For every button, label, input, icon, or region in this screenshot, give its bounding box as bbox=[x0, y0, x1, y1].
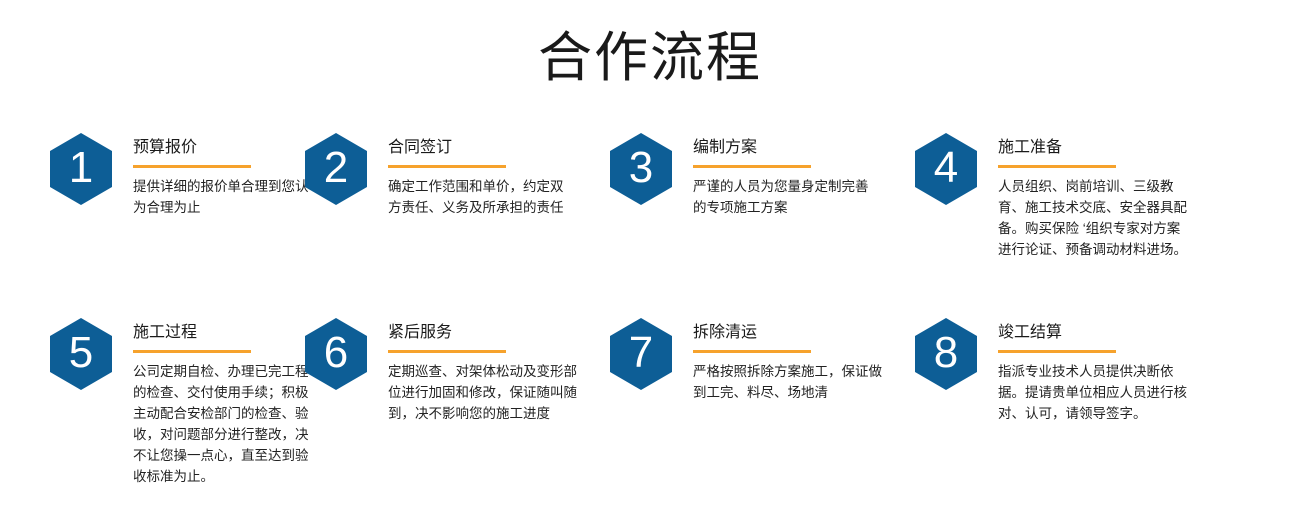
process-row-top: 1 预算报价 提供详细的报价单合理到您认为合理为止 2 合同签订 确定工作范围和… bbox=[0, 130, 1300, 315]
step-underline-rule bbox=[693, 165, 811, 168]
step-text-block-3: 编制方案 严谨的人员为您量身定制完善的专项施工方案 bbox=[672, 130, 915, 218]
step-title-7: 拆除清运 bbox=[693, 323, 915, 343]
step-number-hexagon-6: 6 bbox=[305, 318, 367, 390]
step-underline-rule bbox=[133, 350, 251, 353]
step-title-6: 紧后服务 bbox=[388, 323, 610, 343]
step-description-1: 提供详细的报价单合理到您认为合理为止 bbox=[133, 176, 318, 218]
step-number-label: 7 bbox=[629, 331, 653, 375]
step-underline-rule bbox=[693, 350, 811, 353]
step-description-6: 定期巡查、对架体松动及变形部位进行加固和修改，保证随叫随到，决不影响您的施工进度 bbox=[388, 361, 580, 424]
step-title-2: 合同签订 bbox=[388, 138, 610, 158]
process-step-4[interactable]: 4 施工准备 人员组织、岗前培训、三级教育、施工技术交底、安全器具配备。购买保险… bbox=[915, 130, 1220, 315]
step-number-hexagon-7: 7 bbox=[610, 318, 672, 390]
step-text-block-7: 拆除清运 严格按照拆除方案施工，保证做到工完、料尽、场地清 bbox=[672, 315, 915, 403]
infographic-canvas: 合作流程 1 预算报价 提供详细的报价单合理到您认为合理为止 2 合同签订 bbox=[0, 0, 1300, 532]
step-text-block-1: 预算报价 提供详细的报价单合理到您认为合理为止 bbox=[112, 130, 305, 218]
step-number-label: 3 bbox=[629, 146, 653, 190]
page-title: 合作流程 bbox=[0, 26, 1300, 90]
step-text-block-5: 施工过程 公司定期自检、办理已完工程的检查、交付使用手续；积极主动配合安检部门的… bbox=[112, 315, 305, 487]
step-description-4: 人员组织、岗前培训、三级教育、施工技术交底、安全器具配备。购买保险 ‘组织专家对… bbox=[998, 176, 1190, 260]
process-row-bottom: 5 施工过程 公司定期自检、办理已完工程的检查、交付使用手续；积极主动配合安检部… bbox=[0, 315, 1300, 515]
process-step-1[interactable]: 1 预算报价 提供详细的报价单合理到您认为合理为止 bbox=[0, 130, 305, 315]
step-number-hexagon-1: 1 bbox=[50, 133, 112, 205]
step-number-hexagon-5: 5 bbox=[50, 318, 112, 390]
step-description-3: 严谨的人员为您量身定制完善的专项施工方案 bbox=[693, 176, 878, 218]
step-number-label: 8 bbox=[934, 331, 958, 375]
step-description-5: 公司定期自检、办理已完工程的检查、交付使用手续；积极主动配合安检部门的检查、验收… bbox=[133, 361, 318, 487]
step-number-hexagon-2: 2 bbox=[305, 133, 367, 205]
step-number-hexagon-3: 3 bbox=[610, 133, 672, 205]
step-description-2: 确定工作范围和单价，约定双方责任、义务及所承担的责任 bbox=[388, 176, 573, 218]
step-underline-rule bbox=[998, 165, 1116, 168]
process-step-2[interactable]: 2 合同签订 确定工作范围和单价，约定双方责任、义务及所承担的责任 bbox=[305, 130, 610, 315]
step-text-block-4: 施工准备 人员组织、岗前培训、三级教育、施工技术交底、安全器具配备。购买保险 ‘… bbox=[977, 130, 1220, 260]
step-title-3: 编制方案 bbox=[693, 138, 915, 158]
step-number-label: 4 bbox=[934, 146, 958, 190]
step-title-5: 施工过程 bbox=[133, 323, 305, 343]
step-description-7: 严格按照拆除方案施工，保证做到工完、料尽、场地清 bbox=[693, 361, 885, 403]
process-step-7[interactable]: 7 拆除清运 严格按照拆除方案施工，保证做到工完、料尽、场地清 bbox=[610, 315, 915, 515]
step-text-block-2: 合同签订 确定工作范围和单价，约定双方责任、义务及所承担的责任 bbox=[367, 130, 610, 218]
process-step-6[interactable]: 6 紧后服务 定期巡查、对架体松动及变形部位进行加固和修改，保证随叫随到，决不影… bbox=[305, 315, 610, 515]
step-underline-rule bbox=[133, 165, 251, 168]
step-underline-rule bbox=[388, 165, 506, 168]
step-text-block-6: 紧后服务 定期巡查、对架体松动及变形部位进行加固和修改，保证随叫随到，决不影响您… bbox=[367, 315, 610, 424]
process-step-3[interactable]: 3 编制方案 严谨的人员为您量身定制完善的专项施工方案 bbox=[610, 130, 915, 315]
step-number-hexagon-4: 4 bbox=[915, 133, 977, 205]
step-number-hexagon-8: 8 bbox=[915, 318, 977, 390]
step-underline-rule bbox=[998, 350, 1116, 353]
step-underline-rule bbox=[388, 350, 506, 353]
process-step-8[interactable]: 8 竣工结算 指派专业技术人员提供决断依据。提请贵单位相应人员进行核对、认可，请… bbox=[915, 315, 1220, 515]
step-number-label: 2 bbox=[324, 146, 348, 190]
process-step-5[interactable]: 5 施工过程 公司定期自检、办理已完工程的检查、交付使用手续；积极主动配合安检部… bbox=[0, 315, 305, 515]
step-number-label: 5 bbox=[69, 331, 93, 375]
step-number-label: 6 bbox=[324, 331, 348, 375]
process-steps-grid: 1 预算报价 提供详细的报价单合理到您认为合理为止 2 合同签订 确定工作范围和… bbox=[0, 130, 1300, 515]
step-title-8: 竣工结算 bbox=[998, 323, 1220, 343]
step-text-block-8: 竣工结算 指派专业技术人员提供决断依据。提请贵单位相应人员进行核对、认可，请领导… bbox=[977, 315, 1220, 424]
step-title-1: 预算报价 bbox=[133, 138, 305, 158]
step-description-8: 指派专业技术人员提供决断依据。提请贵单位相应人员进行核对、认可，请领导签字。 bbox=[998, 361, 1190, 424]
step-title-4: 施工准备 bbox=[998, 138, 1220, 158]
step-number-label: 1 bbox=[69, 146, 93, 190]
